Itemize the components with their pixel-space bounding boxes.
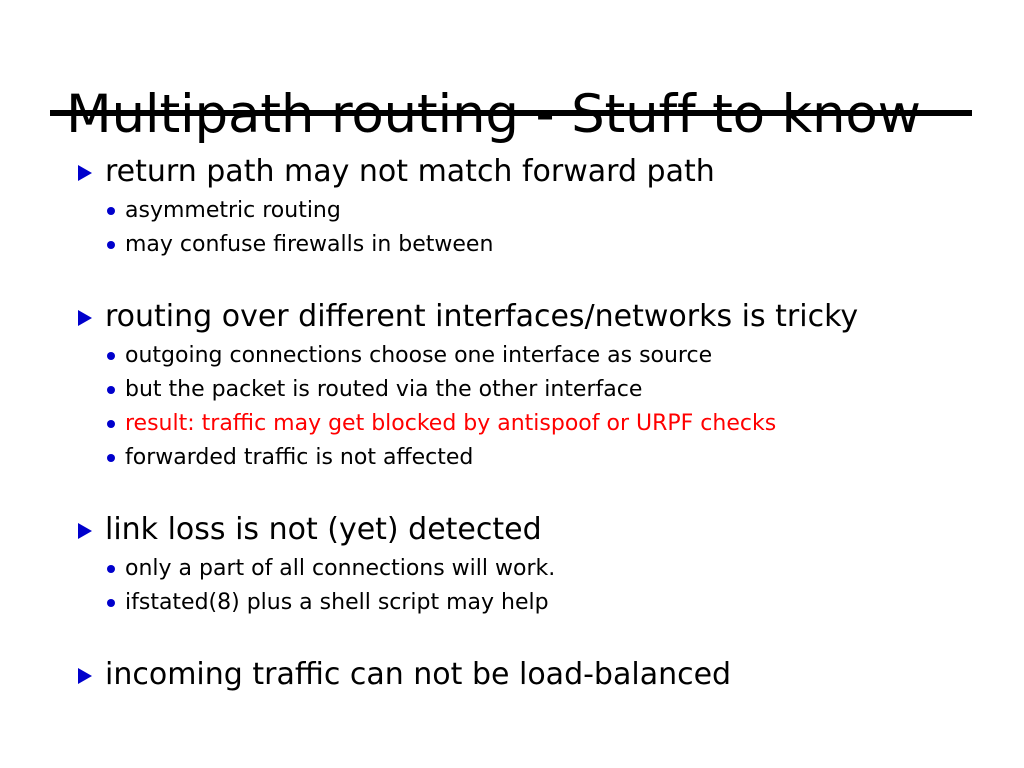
bullet-level1-label: return path may not match forward path <box>105 154 715 189</box>
bullet-group: link loss is not (yet) detected only a p… <box>0 510 1024 620</box>
bullet-level1-label: link loss is not (yet) detected <box>105 512 542 547</box>
bullet-level2-label: ifstated(8) plus a shell script may help <box>125 590 549 615</box>
triangle-bullet-icon <box>78 523 92 539</box>
bullet-level2-label: outgoing connections choose one interfac… <box>125 343 712 368</box>
bullet-level1: link loss is not (yet) detected <box>0 510 1024 550</box>
bullet-level2: forwarded traffic is not affected <box>0 441 1024 475</box>
bullet-group: return path may not match forward path a… <box>0 152 1024 262</box>
dot-bullet-icon <box>107 241 115 249</box>
dot-bullet-icon <box>107 599 115 607</box>
dot-bullet-icon <box>107 420 115 428</box>
bullet-level1: incoming traffic can not be load-balance… <box>0 655 1024 695</box>
triangle-bullet-icon <box>78 310 92 326</box>
bullet-level2: outgoing connections choose one interfac… <box>0 339 1024 373</box>
bullet-level2-label: but the packet is routed via the other i… <box>125 377 642 402</box>
sub-bullet-list: only a part of all connections will work… <box>0 552 1024 620</box>
bullet-level1: routing over different interfaces/networ… <box>0 297 1024 337</box>
bullet-level1-label: routing over different interfaces/networ… <box>105 299 858 334</box>
presentation-slide: Multipath routing - Stuff to know return… <box>0 0 1024 768</box>
bullet-level2-label: asymmetric routing <box>125 198 341 223</box>
triangle-bullet-icon <box>78 165 92 181</box>
bullet-level2: asymmetric routing <box>0 194 1024 228</box>
dot-bullet-icon <box>107 565 115 573</box>
bullet-level1-label: incoming traffic can not be load-balance… <box>105 657 731 692</box>
bullet-group: routing over different interfaces/networ… <box>0 297 1024 475</box>
bullet-level2-label: may confuse firewalls in between <box>125 232 493 257</box>
sub-bullet-list: asymmetric routing may confuse firewalls… <box>0 194 1024 262</box>
bullet-level2-label: result: traffic may get blocked by antis… <box>125 411 776 436</box>
title-underline-rule <box>50 110 972 116</box>
bullet-level2-highlighted: result: traffic may get blocked by antis… <box>0 407 1024 441</box>
bullet-level2: ifstated(8) plus a shell script may help <box>0 586 1024 620</box>
bullet-level2-label: only a part of all connections will work… <box>125 556 555 581</box>
dot-bullet-icon <box>107 386 115 394</box>
triangle-bullet-icon <box>78 668 92 684</box>
dot-bullet-icon <box>107 207 115 215</box>
dot-bullet-icon <box>107 352 115 360</box>
bullet-level2-label: forwarded traffic is not affected <box>125 445 473 470</box>
sub-bullet-list: outgoing connections choose one interfac… <box>0 339 1024 475</box>
dot-bullet-icon <box>107 454 115 462</box>
slide-body: return path may not match forward path a… <box>0 152 1024 695</box>
bullet-level2: may confuse firewalls in between <box>0 228 1024 262</box>
bullet-group: incoming traffic can not be load-balance… <box>0 655 1024 695</box>
bullet-level2: but the packet is routed via the other i… <box>0 373 1024 407</box>
bullet-level2: only a part of all connections will work… <box>0 552 1024 586</box>
bullet-level1: return path may not match forward path <box>0 152 1024 192</box>
